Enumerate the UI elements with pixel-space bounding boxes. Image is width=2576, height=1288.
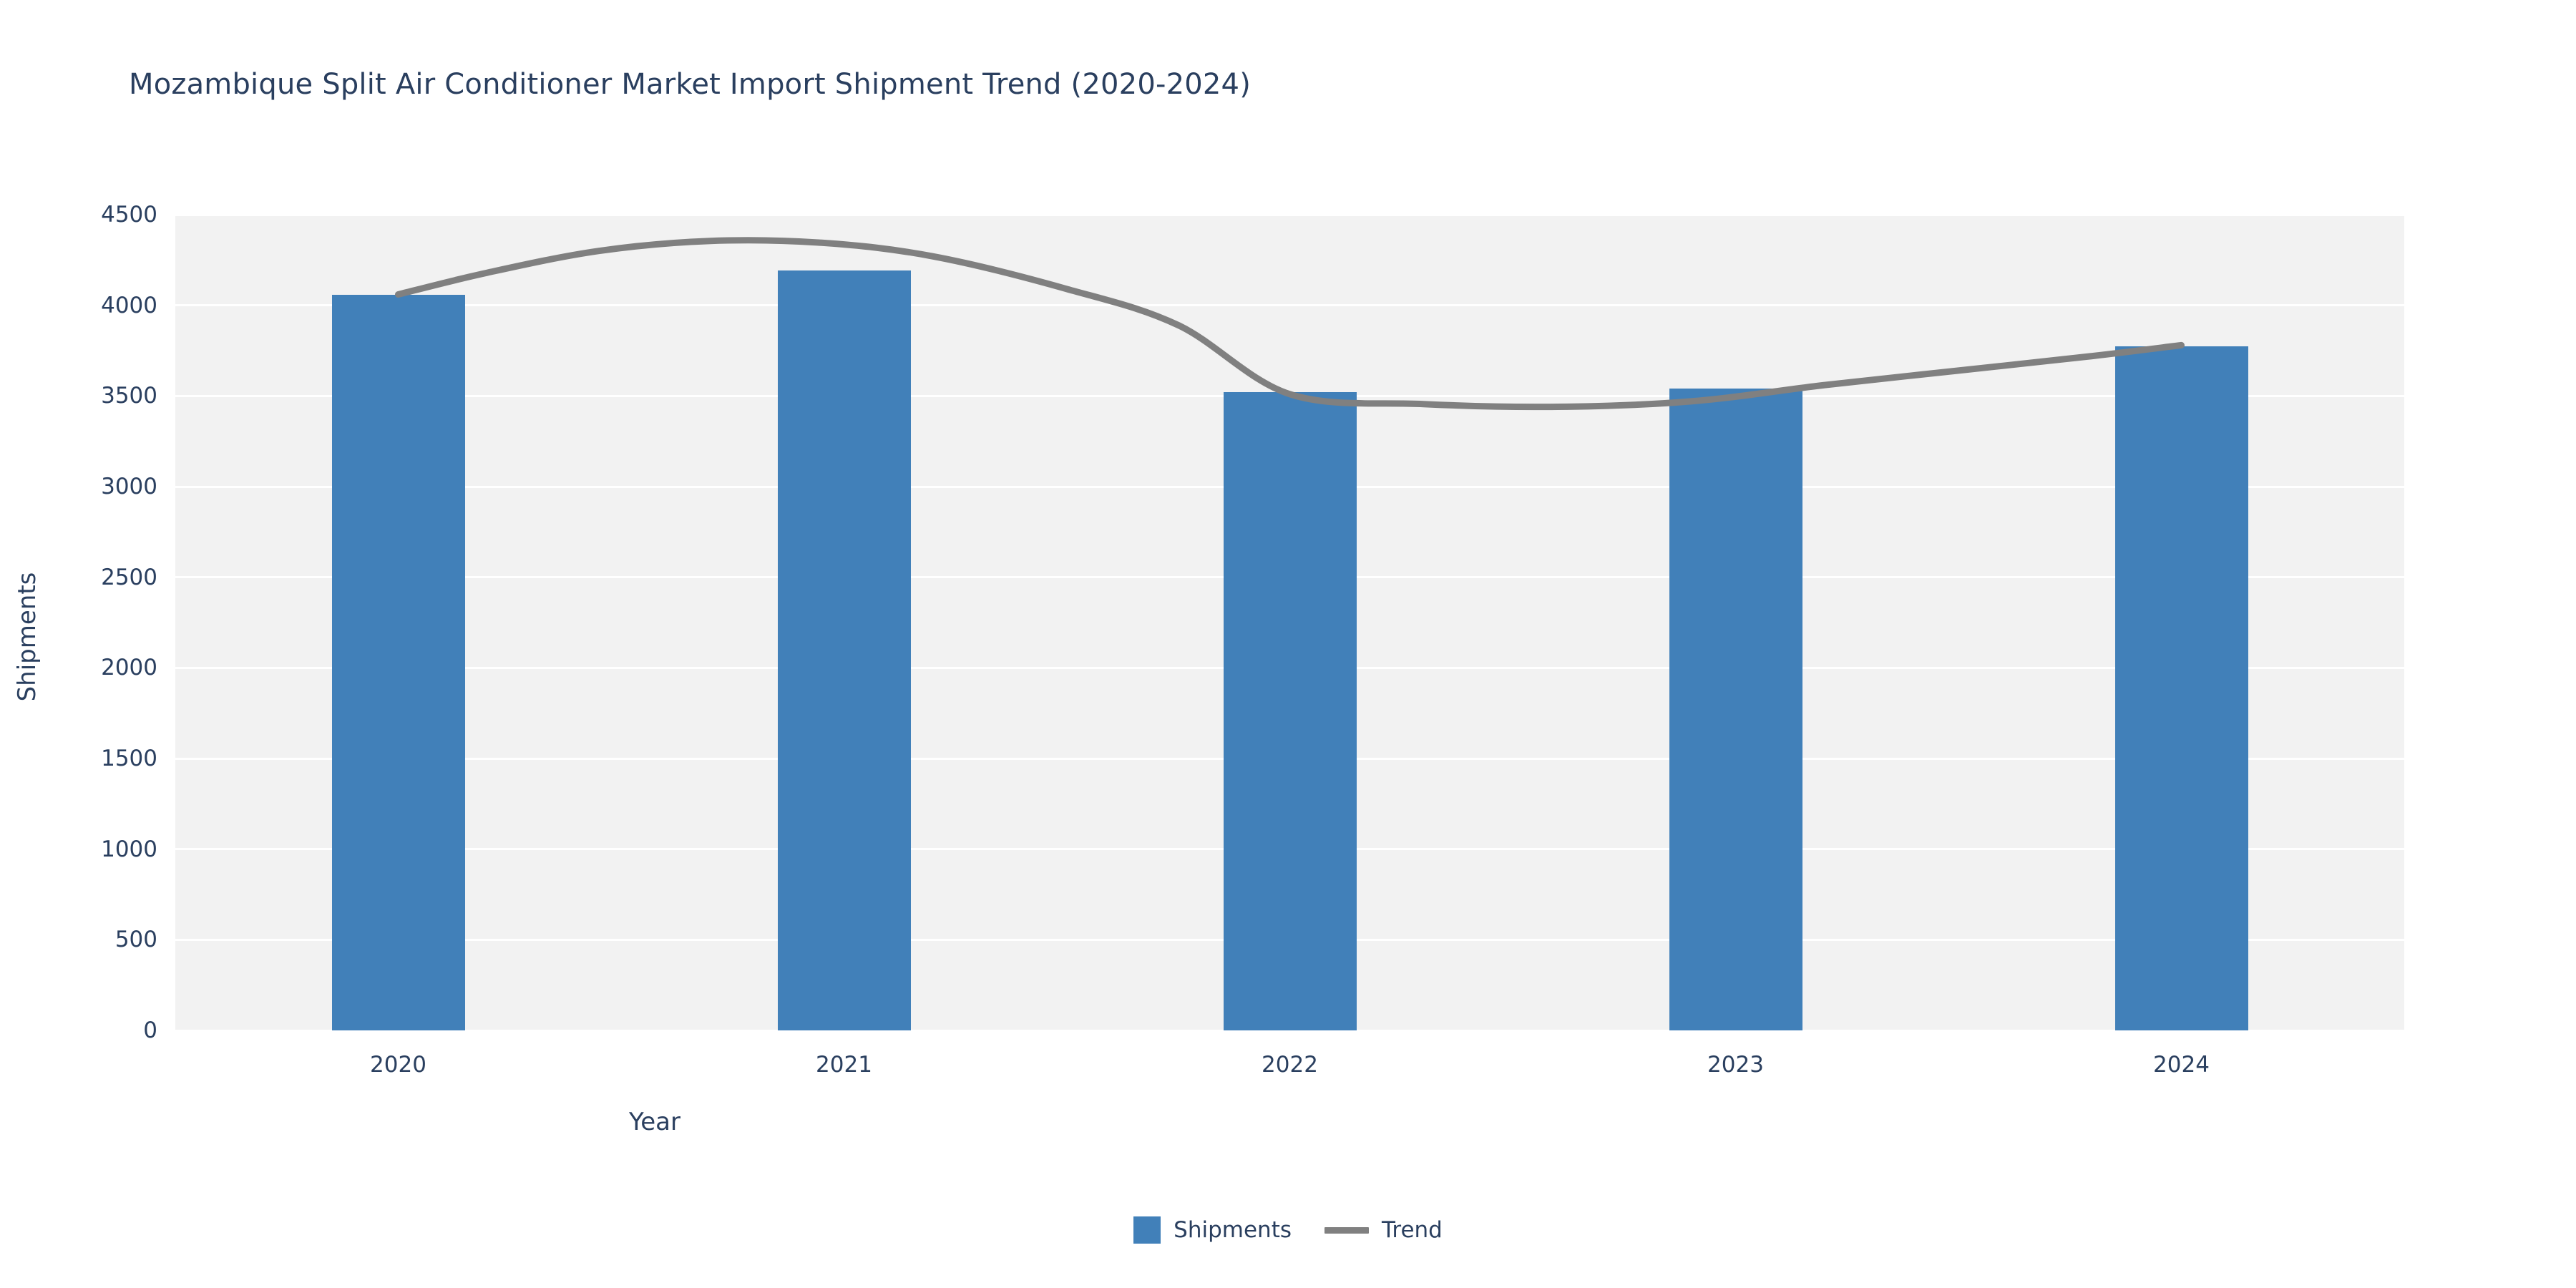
x-axis-tick-label: 2024 (2153, 1052, 2210, 1078)
y-axis-tick-labels: 450040003500300025002000150010005000 (86, 215, 157, 1030)
y-axis-tick-label: 2500 (101, 565, 157, 590)
x-axis-title: Year (0, 1108, 2576, 1136)
chart-container: Mozambique Split Air Conditioner Market … (0, 0, 2576, 1288)
legend-label: Shipments (1174, 1217, 1292, 1243)
y-axis-tick-label: 3500 (101, 383, 157, 409)
y-axis-tick-label: 2000 (101, 655, 157, 680)
trend-line-path (399, 240, 2182, 407)
y-axis-title: Shipments (13, 565, 42, 708)
y-axis-tick-label: 0 (143, 1018, 157, 1043)
x-axis-tick-label: 2020 (370, 1052, 426, 1078)
chart-title: Mozambique Split Air Conditioner Market … (129, 68, 1251, 101)
trend-line-svg (175, 215, 2404, 1030)
x-axis-tick-label: 2022 (1262, 1052, 1318, 1078)
legend-item-trend[interactable]: Trend (1324, 1217, 1443, 1243)
legend-label: Trend (1382, 1217, 1443, 1243)
legend-square-icon (1133, 1216, 1161, 1244)
y-axis-tick-label: 1500 (101, 746, 157, 771)
y-axis-tick-label: 500 (115, 927, 157, 952)
y-axis-tick-label: 4000 (101, 293, 157, 318)
x-axis-title-text: Year (629, 1108, 680, 1136)
y-axis-title-text: Shipments (13, 572, 42, 702)
chart-legend: ShipmentsTrend (0, 1216, 2576, 1244)
x-axis-tick-label: 2023 (1707, 1052, 1764, 1078)
legend-line-icon (1324, 1227, 1369, 1234)
y-axis-tick-label: 3000 (101, 474, 157, 499)
y-axis-tick-label: 4500 (101, 202, 157, 228)
x-axis-tick-label: 2021 (816, 1052, 872, 1078)
plot-area (175, 215, 2404, 1030)
trend-line-layer (175, 215, 2404, 1030)
legend-item-shipments[interactable]: Shipments (1133, 1216, 1292, 1244)
y-axis-tick-label: 1000 (101, 836, 157, 862)
